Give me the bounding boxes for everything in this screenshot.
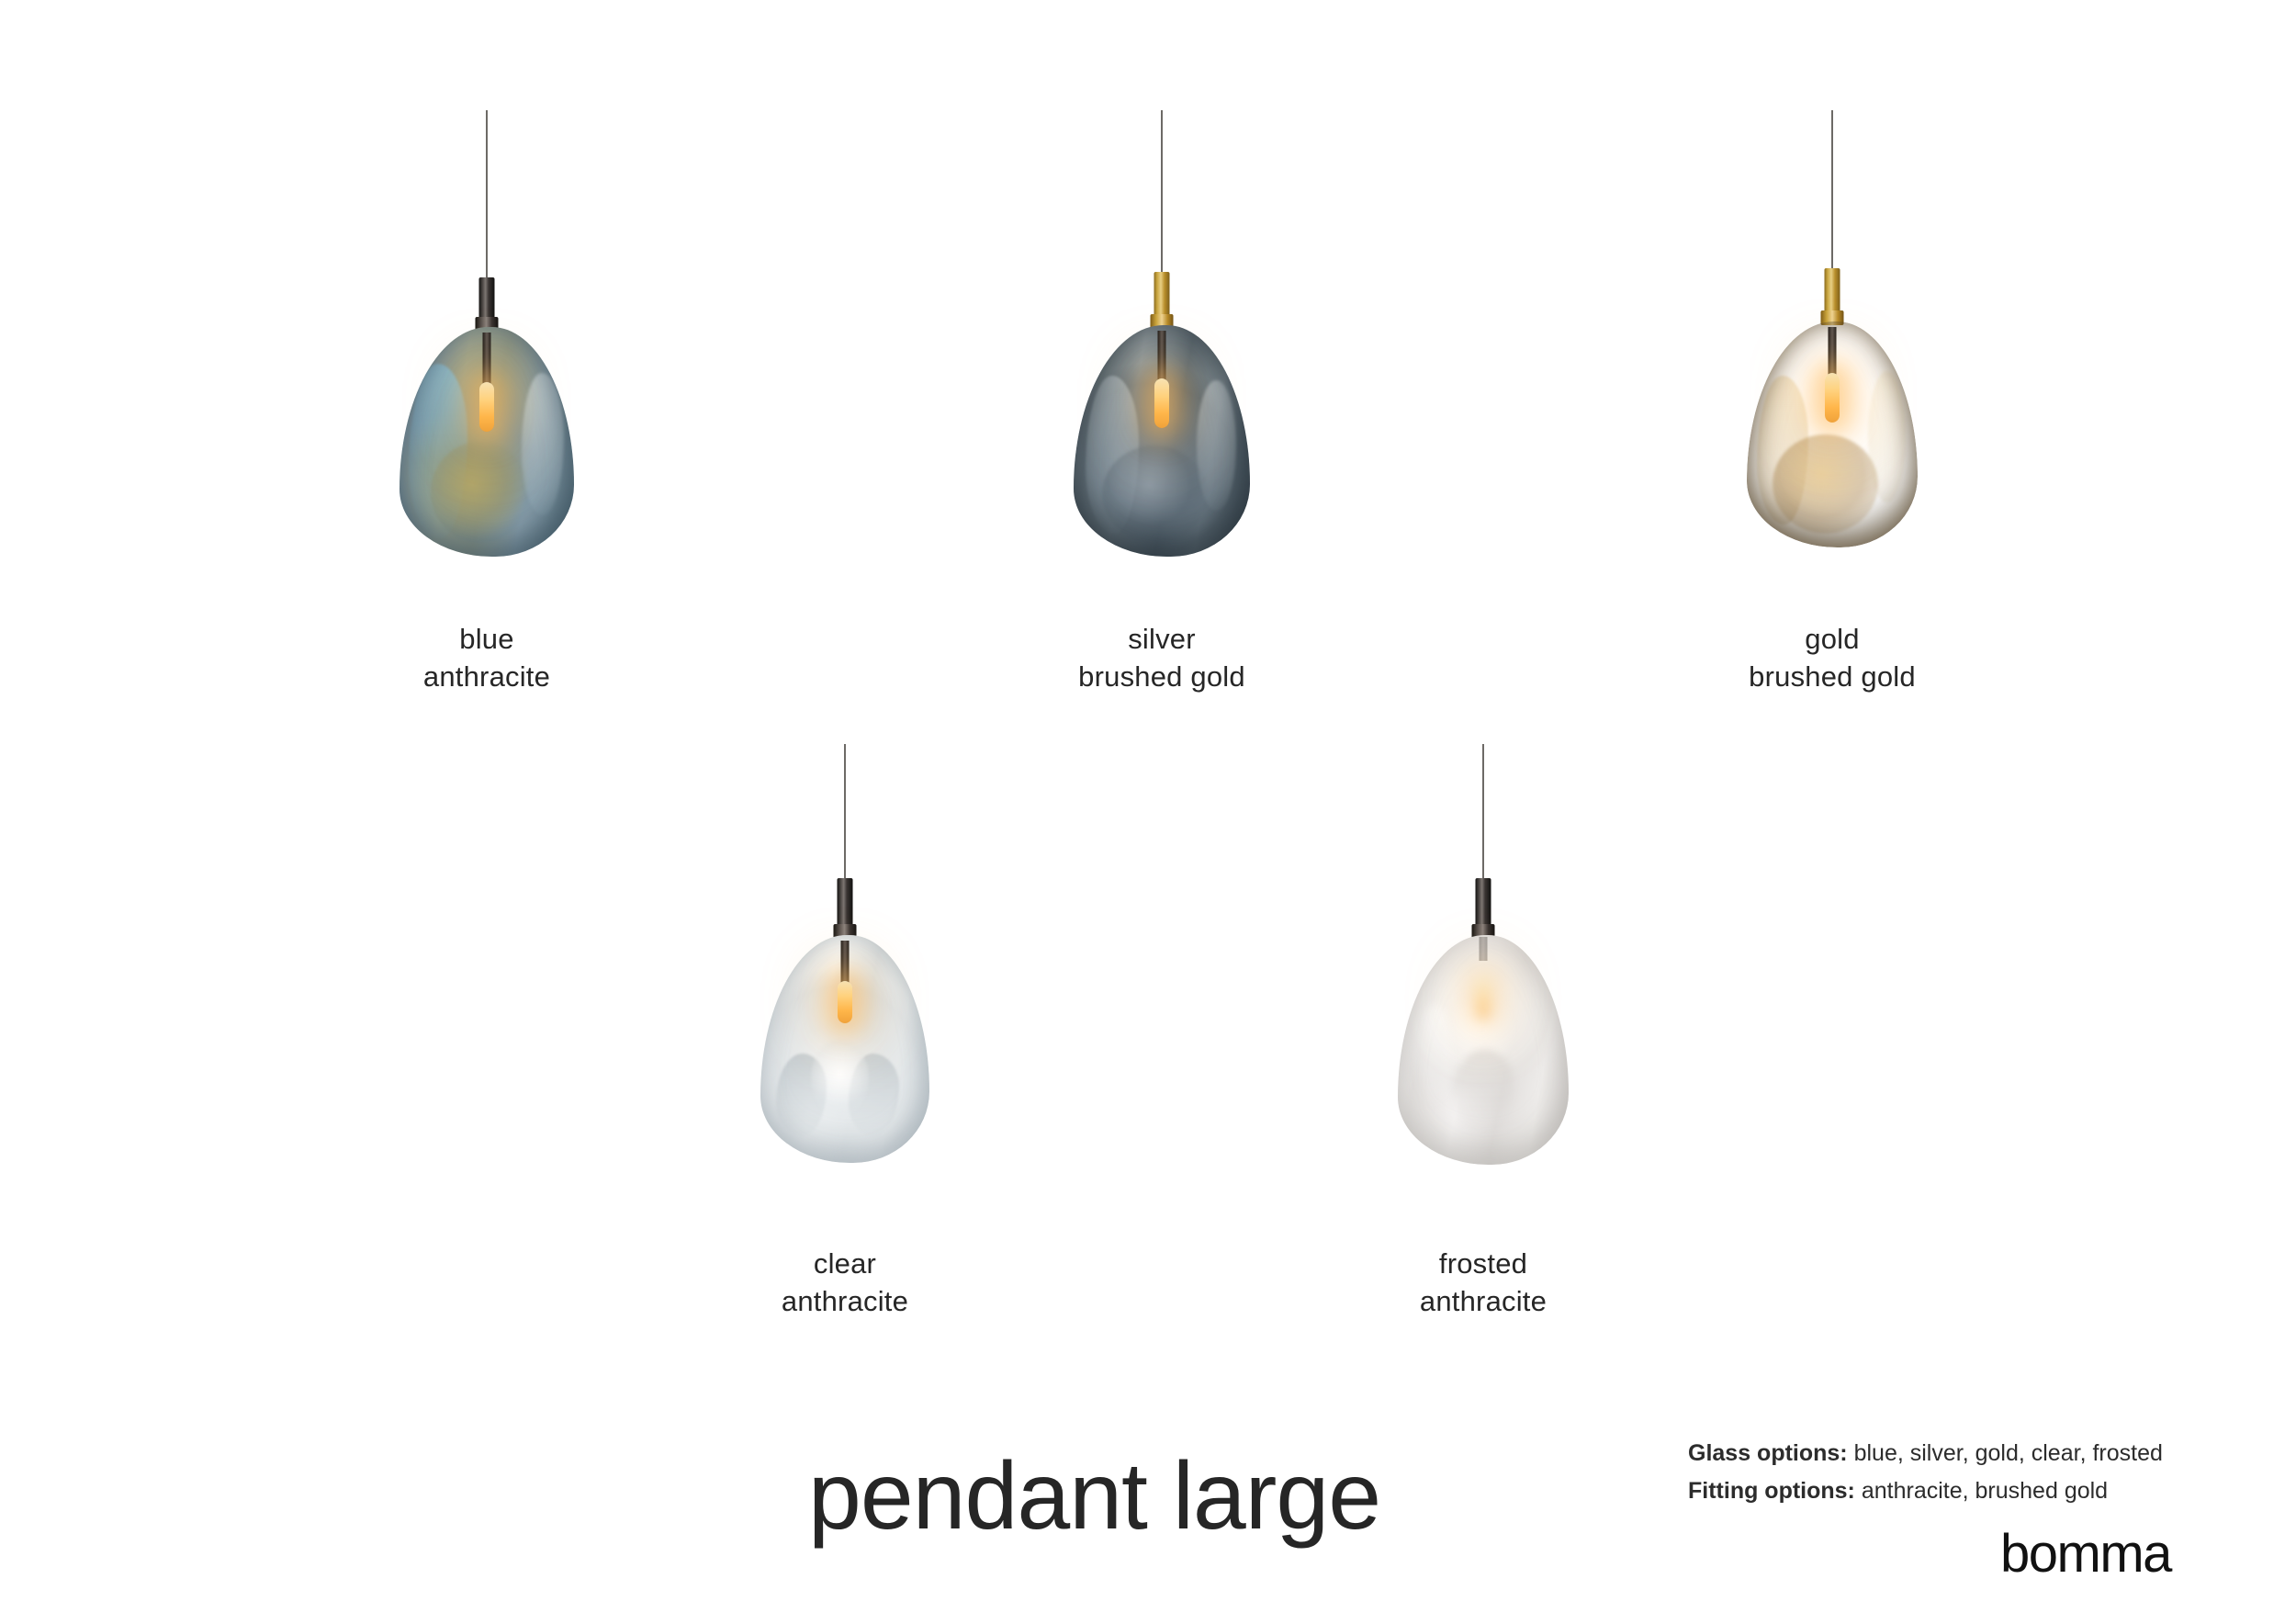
bulb-icon: [1154, 378, 1169, 428]
glass-swirl: [849, 1054, 899, 1135]
lamp-image-blue: [294, 110, 680, 625]
caption-frosted: frosted anthracite: [1290, 1245, 1676, 1320]
glass-swirl: [1773, 434, 1878, 534]
glass-highlight: [522, 373, 564, 515]
page-title: pendant large: [808, 1442, 1380, 1551]
bulb-neck-icon: [1158, 331, 1166, 386]
glass-options-line: Glass options: blue, silver, gold, clear…: [1688, 1435, 2163, 1472]
glass-name: silver: [969, 620, 1355, 658]
glass-swirl: [1757, 376, 1808, 524]
glass-swirl: [1102, 445, 1208, 543]
fitting-name: brushed gold: [969, 658, 1355, 695]
bulb-neck-icon: [1480, 937, 1488, 961]
glass-swirl: [431, 442, 528, 543]
fitting-name: anthracite: [652, 1282, 1038, 1320]
lamp-image-clear: [652, 744, 1038, 1258]
cord-icon: [844, 744, 846, 884]
bulb-icon: [1476, 976, 1491, 1020]
cord-icon: [486, 110, 488, 285]
lamp-image-gold: [1639, 110, 2025, 625]
fitting-options-line: Fitting options: anthracite, brushed gol…: [1688, 1472, 2163, 1510]
cord-icon: [1831, 110, 1833, 274]
glass-swirl: [776, 1054, 827, 1135]
glass-swirl: [409, 364, 468, 538]
glass-highlight: [1868, 371, 1906, 502]
fitting-name: anthracite: [1290, 1282, 1676, 1320]
lamp-image-frosted: [1290, 744, 1676, 1258]
catalog-sheet: blue anthracite silver brushed gold: [0, 0, 2296, 1624]
glass-name: gold: [1639, 620, 2025, 658]
product-card-silver[interactable]: silver brushed gold: [969, 110, 1355, 625]
glass-highlight: [1197, 380, 1235, 510]
product-card-clear[interactable]: clear anthracite: [652, 744, 1038, 1258]
lamp-image-silver: [969, 110, 1355, 625]
glass-name: blue: [294, 620, 680, 658]
glass-highlight: [811, 1040, 869, 1117]
caption-silver: silver brushed gold: [969, 620, 1355, 695]
bulb-icon: [838, 981, 852, 1023]
bomma-logo: bomma: [2000, 1523, 2171, 1585]
bulb-neck-icon: [483, 333, 491, 389]
glass-shade-frosted: [1398, 935, 1569, 1165]
product-card-gold[interactable]: gold brushed gold: [1639, 110, 2025, 625]
glass-highlight: [1415, 1004, 1453, 1105]
glass-options-label: Glass options:: [1688, 1440, 1848, 1466]
fitting-name: anthracite: [294, 658, 680, 695]
glass-swirl: [1086, 376, 1139, 533]
caption-gold: gold brushed gold: [1639, 620, 2025, 695]
product-card-blue[interactable]: blue anthracite: [294, 110, 680, 625]
glass-swirl: [1453, 1050, 1514, 1128]
fitting-name: brushed gold: [1639, 658, 2025, 695]
product-card-frosted[interactable]: frosted anthracite: [1290, 744, 1676, 1258]
fitting-options-label: Fitting options:: [1688, 1478, 1855, 1504]
options-block: Glass options: blue, silver, gold, clear…: [1688, 1435, 2163, 1509]
bulb-icon: [479, 382, 494, 432]
caption-blue: blue anthracite: [294, 620, 680, 695]
glass-name: frosted: [1290, 1245, 1676, 1282]
glass-rim: [1398, 935, 1569, 1165]
cord-icon: [1482, 744, 1484, 884]
fitting-options-values: anthracite, brushed gold: [1862, 1478, 2108, 1504]
caption-clear: clear anthracite: [652, 1245, 1038, 1320]
glass-options-values: blue, silver, gold, clear, frosted: [1854, 1440, 2163, 1466]
bulb-icon: [1825, 373, 1840, 423]
cord-icon: [1161, 110, 1163, 277]
glass-name: clear: [652, 1245, 1038, 1282]
